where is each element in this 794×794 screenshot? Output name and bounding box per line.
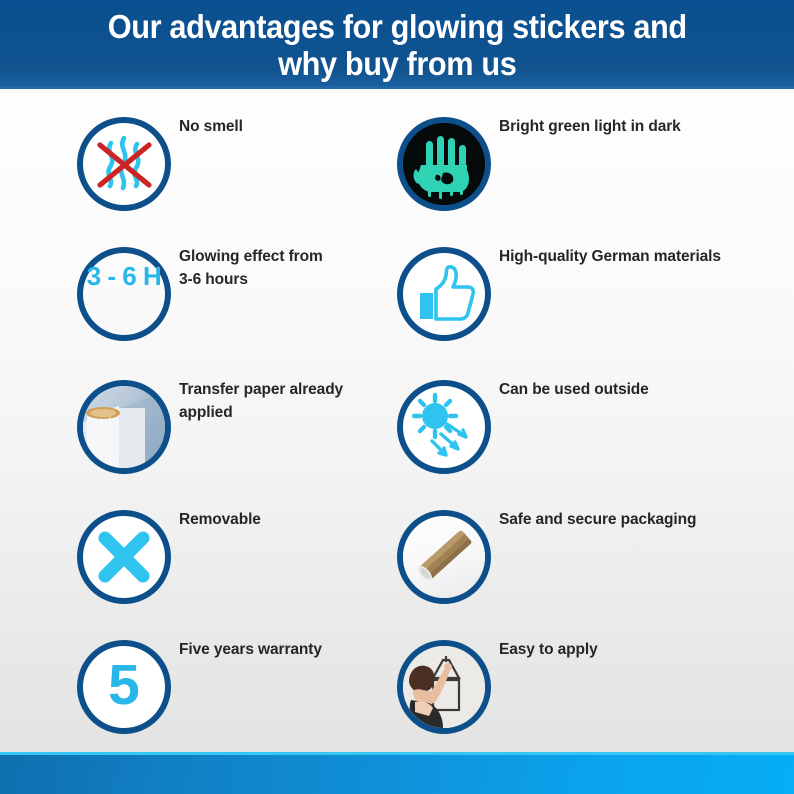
hours-icon-label: 3 - 6 H <box>72 261 176 292</box>
feature-five-years-warranty: 5 Five years warranty <box>77 626 407 756</box>
feature-used-outside: Can be used outside <box>397 366 727 496</box>
sun-icon-art <box>403 386 485 468</box>
feature-easy-to-apply: Easy to apply <box>397 626 727 756</box>
feature-label: Safe and secure packaging <box>499 508 724 531</box>
cross-x-icon-art <box>83 516 165 598</box>
feature-german-materials: High-quality German materials <box>397 233 727 363</box>
easy-to-apply-art <box>403 646 485 728</box>
feature-label: Glowing effect from 3-6 hours <box>179 245 404 291</box>
mailing-tube-art <box>403 516 485 598</box>
feature-label: No smell <box>179 115 404 138</box>
feature-label: Bright green light in dark <box>499 115 724 138</box>
thumbs-up-icon <box>397 247 491 341</box>
transfer-paper-photo <box>77 380 171 474</box>
feature-glowing-effect-hours: 3 - 6 H Glowing effect from 3-6 hours <box>77 233 407 363</box>
feature-label: Easy to apply <box>499 638 724 661</box>
feature-no-smell: No smell <box>77 103 407 233</box>
feature-removable: Removable <box>77 496 407 626</box>
page-title: Our advantages for glowing stickers and … <box>102 8 692 82</box>
glowing-hand-icon-art <box>403 123 485 205</box>
woman-applying-sticker-photo <box>397 640 491 734</box>
number-five-label: 5 <box>77 640 171 734</box>
feature-label: Can be used outside <box>499 378 724 401</box>
sun-icon <box>397 380 491 474</box>
features-grid: No smell <box>0 89 794 752</box>
cross-x-icon <box>77 510 171 604</box>
feature-label: Five years warranty <box>179 638 404 661</box>
no-smell-icon-art <box>83 123 165 205</box>
feature-label: High-quality German materials <box>499 245 724 268</box>
number-five-icon: 5 <box>77 640 171 734</box>
transfer-paper-art <box>83 386 165 468</box>
feature-bright-green-light: Bright green light in dark <box>397 103 727 233</box>
feature-label: Transfer paper already applied <box>179 378 404 424</box>
feature-label: Removable <box>179 508 404 531</box>
mailing-tube-photo <box>397 510 491 604</box>
feature-transfer-paper: Transfer paper already applied <box>77 366 407 496</box>
hours-icon: 3 - 6 H <box>77 247 171 341</box>
glowing-hand-icon <box>397 117 491 211</box>
footer-accent-bar <box>0 752 794 794</box>
header-banner: Our advantages for glowing stickers and … <box>0 0 794 89</box>
feature-secure-packaging: Safe and secure packaging <box>397 496 727 626</box>
advantages-infographic: Our advantages for glowing stickers and … <box>0 0 794 794</box>
no-smell-icon <box>77 117 171 211</box>
thumbs-up-icon-art <box>403 253 485 335</box>
